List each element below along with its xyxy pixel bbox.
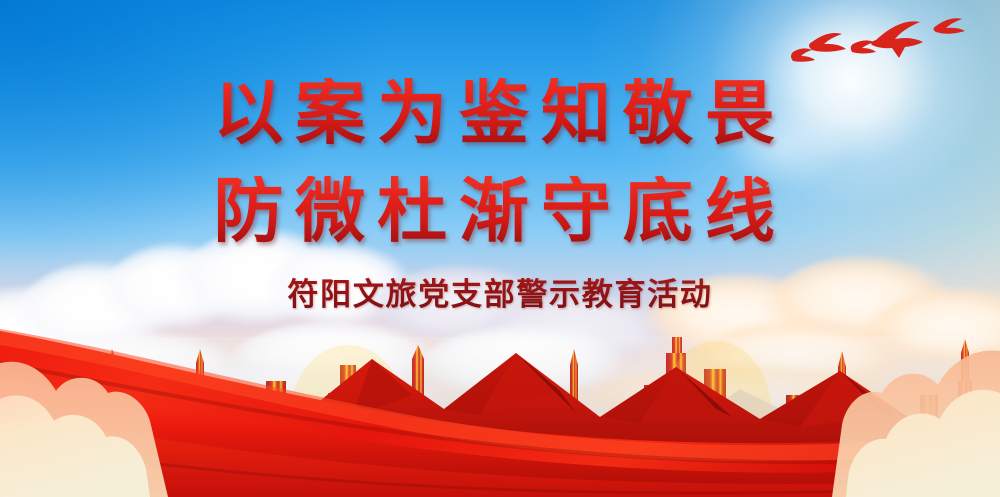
poster-subtitle: 符阳文旅党支部警示教育活动 xyxy=(0,276,1000,314)
bird-icon xyxy=(871,21,923,58)
bird-icon xyxy=(809,33,846,52)
headline-line-1: 以案为鉴知敬畏 xyxy=(0,78,1000,152)
poster-canvas: 以案为鉴知敬畏 防微杜渐守底线 符阳文旅党支部警示教育活动 xyxy=(0,0,1000,497)
headline-line-2: 防微杜渐守底线 xyxy=(0,176,1000,250)
bird-icon xyxy=(934,18,966,33)
bird-icon xyxy=(791,48,815,61)
corner-cloud-blobs xyxy=(0,317,1000,497)
